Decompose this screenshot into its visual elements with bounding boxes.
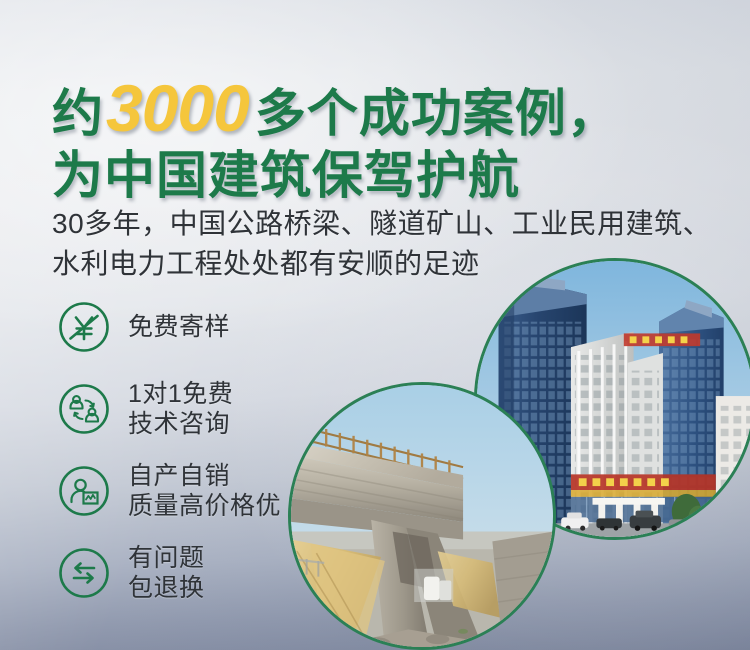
feature-line-1: 1对1免费 xyxy=(128,379,233,410)
self-production-icon xyxy=(56,463,112,519)
feature-line-2: 包退换 xyxy=(128,573,205,604)
headline-suffix: 多个成功案例， xyxy=(255,85,619,142)
feature-line-2: 技术咨询 xyxy=(128,409,233,440)
feature-list: 免费寄样 1对1免费 技术咨询 xyxy=(56,296,356,624)
return-exchange-icon xyxy=(56,545,112,601)
promotional-banner: 约3000多个成功案例， 为中国建筑保驾护航 30多年，中国公路桥梁、隧道矿山、… xyxy=(0,0,750,650)
feature-line-1: 有问题 xyxy=(128,543,205,574)
headline-line-1: 约3000多个成功案例， xyxy=(52,74,712,143)
headline-block: 约3000多个成功案例， 为中国建筑保驾护航 xyxy=(52,74,712,202)
feature-line-1: 免费寄样 xyxy=(128,312,230,343)
feature-item-consult: 1对1免费 技术咨询 xyxy=(56,378,356,440)
headline-case-count: 3000 xyxy=(104,71,255,145)
free-sample-icon xyxy=(56,299,112,355)
headline-slogan: 为中国建筑保驾护航 xyxy=(52,147,520,204)
headline-prefix: 约 xyxy=(52,85,104,142)
one-on-one-consult-icon xyxy=(56,381,112,437)
feature-item-return-exchange: 有问题 包退换 xyxy=(56,542,356,604)
headline-line-2: 为中国建筑保驾护航 xyxy=(52,149,712,202)
feature-text-return-exchange: 有问题 包退换 xyxy=(128,543,205,604)
feature-line-1: 自产自销 xyxy=(128,461,281,492)
feature-text-consult: 1对1免费 技术咨询 xyxy=(128,379,233,440)
feature-text-free-sample: 免费寄样 xyxy=(128,312,230,343)
feature-text-self-production: 自产自销 质量高价格优 xyxy=(128,461,281,522)
subtitle-line-1: 30多年，中国公路桥梁、隧道矿山、工业民用建筑、 xyxy=(52,204,732,244)
feature-item-self-production: 自产自销 质量高价格优 xyxy=(56,460,356,522)
feature-line-2: 质量高价格优 xyxy=(128,491,281,522)
feature-item-free-sample: 免费寄样 xyxy=(56,296,356,358)
